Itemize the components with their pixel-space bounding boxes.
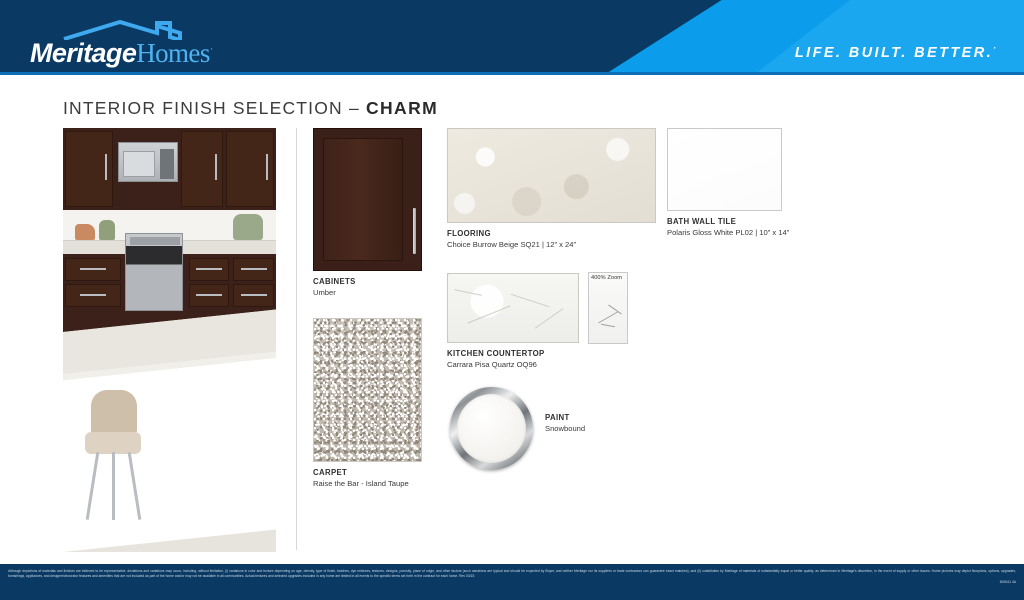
flooring-swatch-image bbox=[447, 128, 656, 223]
kitchen-countertop-detail: Carrara Pisa Quartz OQ96 bbox=[447, 360, 579, 369]
brand-tagline-trademark: · bbox=[993, 43, 996, 53]
selection-flooring[interactable]: FLOORING Choice Burrow Beige SQ21 | 12” … bbox=[447, 128, 656, 249]
logo-trademark: · bbox=[210, 43, 213, 55]
photo-kettle bbox=[75, 224, 95, 240]
photo-microwave-panel bbox=[160, 149, 174, 179]
photo-upper-cabinets bbox=[63, 128, 276, 210]
photo-drawer bbox=[65, 284, 121, 307]
paint-can-lid-icon bbox=[450, 387, 533, 470]
brand-tagline: LIFE. BUILT. BETTER.· bbox=[795, 43, 996, 61]
photo-cabinet-door bbox=[181, 131, 223, 207]
photo-drawer bbox=[65, 258, 121, 281]
logo-wordmark: MeritageHomes· bbox=[30, 36, 245, 62]
photo-drawer bbox=[189, 284, 229, 307]
bath-wall-tile-label: BATH WALL TILE bbox=[667, 217, 789, 226]
page-title-prefix: INTERIOR FINISH SELECTION – bbox=[63, 98, 366, 118]
photo-plant bbox=[233, 214, 263, 240]
photo-microwave-window bbox=[123, 151, 155, 177]
logo-word-primary: Meritage bbox=[30, 38, 136, 68]
page-title: INTERIOR FINISH SELECTION – CHARM bbox=[63, 98, 438, 119]
selection-cabinets[interactable]: CABINETS Umber bbox=[313, 128, 422, 297]
paint-label-group: PAINT Snowbound bbox=[545, 413, 585, 433]
bath-wall-tile-detail: Polaris Gloss White PL02 | 10” x 14” bbox=[667, 228, 789, 237]
photo-drawer bbox=[233, 284, 274, 307]
footer-revision-code: 6D9411 4A bbox=[8, 580, 1016, 584]
brand-header: MeritageHomes· LIFE. BUILT. BETTER.· bbox=[0, 0, 1024, 75]
photo-cabinet-door bbox=[65, 131, 113, 207]
cabinets-swatch-image bbox=[313, 128, 422, 271]
cabinet-door-panel bbox=[323, 138, 403, 261]
paint-label: PAINT bbox=[545, 413, 585, 422]
paint-color-chip bbox=[457, 394, 526, 463]
carpet-swatch-image bbox=[313, 318, 422, 462]
countertop-zoom-image: 400% Zoom bbox=[588, 272, 628, 344]
kitchen-countertop-swatch-image bbox=[447, 273, 579, 343]
header-underline bbox=[0, 72, 1024, 75]
cabinet-pull-handle-icon bbox=[413, 208, 416, 254]
photo-microwave bbox=[118, 142, 178, 182]
finish-selection-page: MeritageHomes· LIFE. BUILT. BETTER.· INT… bbox=[0, 0, 1024, 600]
flooring-detail: Choice Burrow Beige SQ21 | 12” x 24” bbox=[447, 240, 656, 249]
photo-bar-stool bbox=[85, 390, 141, 520]
flooring-label: FLOORING bbox=[447, 229, 656, 238]
kitchen-countertop-label: KITCHEN COUNTERTOP bbox=[447, 349, 579, 358]
countertop-zoom-caption: 400% Zoom bbox=[591, 275, 622, 281]
legal-footer: Although depictions of materials and fin… bbox=[0, 564, 1024, 600]
kitchen-hero-photo bbox=[63, 128, 276, 552]
selection-kitchen-countertop[interactable]: KITCHEN COUNTERTOP Carrara Pisa Quartz O… bbox=[447, 273, 579, 369]
bath-wall-tile-swatch-image bbox=[667, 128, 782, 211]
cabinets-label: CABINETS bbox=[313, 277, 422, 286]
photo-drawer bbox=[233, 258, 274, 281]
footer-disclaimer: Although depictions of materials and fin… bbox=[8, 569, 1016, 579]
selection-bath-wall-tile[interactable]: BATH WALL TILE Polaris Gloss White PL02 … bbox=[667, 128, 789, 237]
meritage-homes-logo[interactable]: MeritageHomes· bbox=[30, 20, 240, 62]
photo-range bbox=[125, 233, 183, 311]
carpet-detail: Raise the Bar - Island Taupe bbox=[313, 479, 422, 488]
photo-plant bbox=[99, 220, 115, 240]
photo-cabinet-door bbox=[226, 131, 274, 207]
photo-drawer bbox=[189, 258, 229, 281]
countertop-zoom-swatch[interactable]: 400% Zoom bbox=[588, 272, 628, 344]
cabinets-detail: Umber bbox=[313, 288, 422, 297]
logo-word-secondary: Homes bbox=[136, 38, 210, 68]
vertical-divider bbox=[296, 128, 297, 550]
paint-detail: Snowbound bbox=[545, 424, 585, 433]
carpet-label: CARPET bbox=[313, 468, 422, 477]
page-title-collection: CHARM bbox=[366, 98, 438, 118]
brand-tagline-text: LIFE. BUILT. BETTER. bbox=[795, 45, 993, 61]
selection-paint[interactable]: PAINT Snowbound bbox=[450, 387, 533, 470]
selection-carpet[interactable]: CARPET Raise the Bar - Island Taupe bbox=[313, 318, 422, 488]
